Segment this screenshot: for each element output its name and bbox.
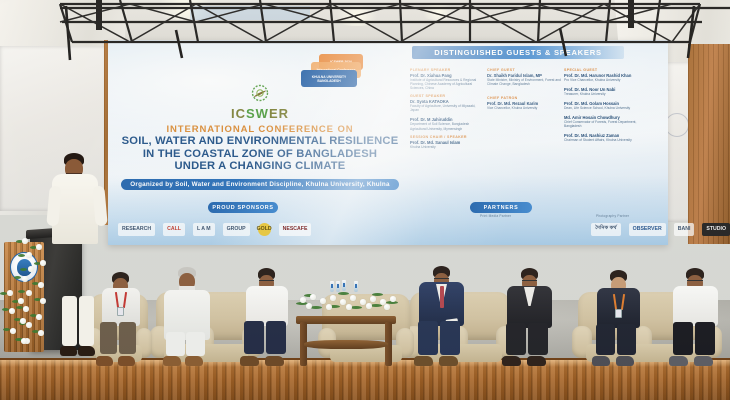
conference-eyebrow: INTERNATIONAL CONFERENCE ON (114, 124, 406, 135)
guests-column-1: PLENARY SPEAKER Prof. Dr. Xiahua Pang In… (410, 64, 484, 149)
guest-role: PLENARY SPEAKER (410, 68, 484, 72)
guest-role: CHIEF PATRON (487, 96, 561, 100)
screen-watermark-icon (665, 113, 689, 137)
guest-affiliation: State Minister, Ministry of Environment,… (487, 78, 561, 86)
person-guest-5 (500, 260, 564, 366)
conference-photo: ICSWER 2024 International Conference KHU… (0, 0, 730, 400)
guests-column-3: SPECIAL GUEST Prof. Dr. Md. Harunor Rash… (564, 64, 638, 149)
guest-affiliation: Department of Soil Science, Bangladesh A… (410, 122, 484, 130)
guest-affiliation: Faculty of Agriculture, University of Mi… (410, 104, 484, 112)
banner-title-line-1: SOIL, WATER AND ENVIRONMENTAL RESILIENCE (114, 135, 406, 148)
partner-logo: OBSERVER (629, 223, 666, 236)
id-badge (615, 309, 622, 318)
logo-text-post: ER (269, 106, 289, 121)
guest-affiliation: Chief Conservator of Forests, Forest Dep… (564, 120, 638, 128)
sponsor-logo-row: RESEARCH CALL L A M GROUP GOLD NESCAFE দ… (112, 218, 730, 240)
guest-role: SESSION CHAIR / SPEAKER (410, 135, 484, 139)
banner-title-line-2: IN THE COASTAL ZONE OF BANGLADESH (114, 148, 406, 161)
guest-affiliation: Khulna University (410, 145, 484, 149)
guests-column-2: CHIEF GUEST Dr. Shaikh Faridul Islam, MP… (487, 64, 561, 149)
banner-title-block: ICSWER INTERNATIONAL CONFERENCE ON SOIL,… (114, 46, 406, 221)
partners-pill: PARTNERS (470, 202, 532, 213)
id-badge (117, 307, 124, 316)
person-guest-1 (92, 262, 154, 366)
guest-affiliation: Institute of Agricultural Resources & Re… (410, 78, 484, 90)
guest-affiliation: Dean, Life Science School, Khulna Univer… (564, 106, 638, 110)
person-guest-7 (668, 260, 730, 366)
guest-role: SPECIAL GUEST (564, 68, 638, 72)
glasses-icon (259, 280, 274, 284)
icswer-logo: ICSWER (114, 84, 406, 120)
glasses-icon (687, 280, 703, 284)
sponsor-logo: CALL (163, 223, 185, 236)
organizer-bar: Organized by Soil, Water and Environment… (121, 179, 399, 190)
proud-sponsors-pill: PROUD SPONSORS (208, 202, 278, 213)
logo-text-pre: IC (231, 106, 246, 121)
sponsor-logo: NESCAFE (279, 223, 312, 236)
person-guest-4 (412, 258, 476, 366)
necktie (440, 286, 444, 308)
guest-affiliation: Treasurer, Khulna University (564, 92, 638, 96)
stage-side-flowers (0, 288, 30, 348)
guest-role: GUEST SPEAKER (410, 94, 484, 98)
sponsor-logo: GOLD (258, 223, 271, 236)
guest-affiliation: Chairman of Student Affairs, Khulna Univ… (564, 138, 638, 142)
guest-role: CHIEF GUEST (487, 68, 561, 72)
icswer-wordmark: ICSWER (114, 107, 406, 120)
sponsor-logo: L A M (193, 223, 215, 236)
guest-affiliation: Pro Vice Chancellor, Khulna University (564, 78, 638, 82)
banner-title-line-3: UNDER A CHANGING CLIMATE (114, 160, 406, 173)
partner-logo: STUDIO (702, 223, 730, 236)
partner-logo: BANI (674, 223, 695, 236)
speaker-lower-body (60, 292, 100, 356)
logo-text-mid: SW (246, 106, 269, 121)
person-guest-3 (238, 260, 302, 366)
lighting-truss (0, 0, 730, 62)
table-flower-arrangement (294, 288, 404, 312)
person-guest-2 (160, 258, 222, 366)
partner-logo: দৈনিক কর্থ (591, 223, 620, 236)
guest-affiliation: Vice Chancellor, Khulna University (487, 106, 561, 110)
sponsor-logo: GROUP (223, 223, 250, 236)
person-guest-6 (590, 262, 652, 366)
sponsor-logo: RESEARCH (118, 223, 155, 236)
glasses-icon (522, 280, 537, 284)
conference-backdrop-banner: ICSWER 2024 International Conference KHU… (108, 40, 668, 245)
wood-panel-far-right (688, 44, 730, 244)
icswer-emblem-icon (249, 84, 271, 106)
